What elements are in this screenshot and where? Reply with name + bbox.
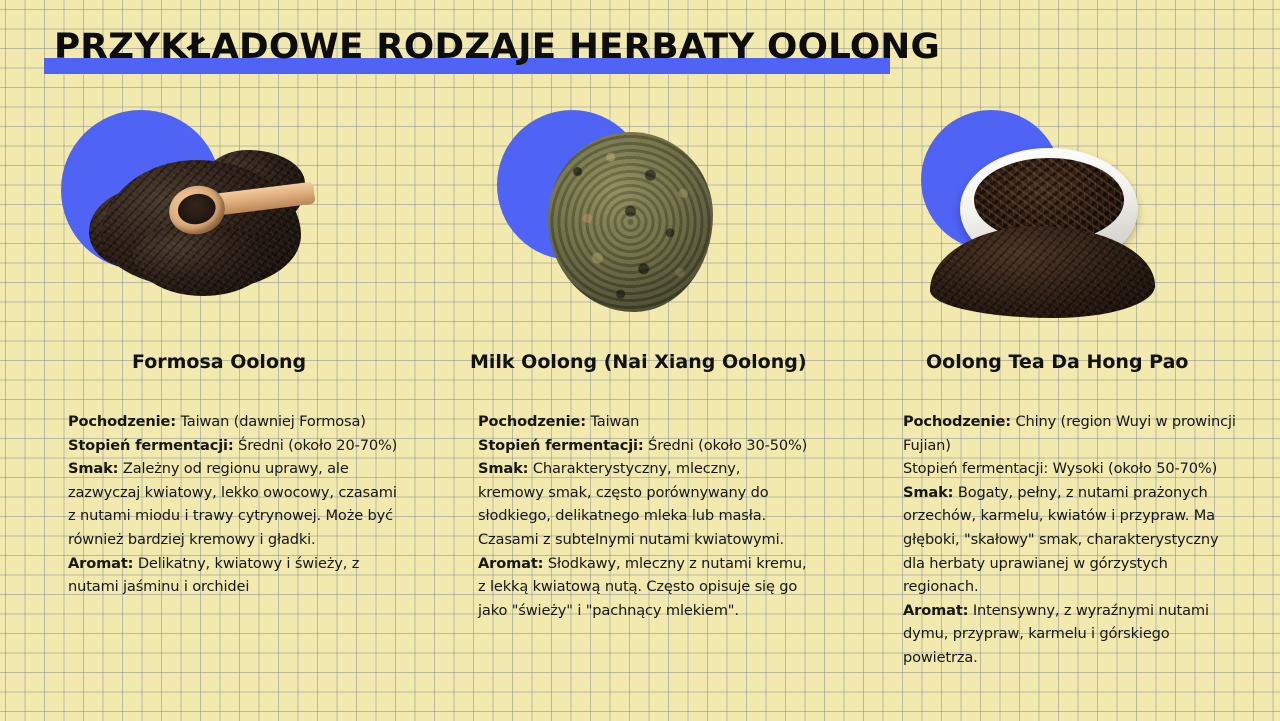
- field-row: Pochodzenie: Taiwan: [478, 410, 808, 434]
- tea-card-da-hong-pao: Oolong Tea Da Hong Pao Pochodzenie: Chin…: [880, 0, 1280, 721]
- tea-name-heading: Milk Oolong (Nai Xiang Oolong): [470, 350, 807, 374]
- field-value: Średni (około 30-50%): [644, 437, 808, 454]
- field-row: Aromat: Słodkawy, mleczny z nutami kremu…: [478, 552, 808, 623]
- field-row: Aromat: Intensywny, z wyraźnymi nutami d…: [903, 599, 1243, 670]
- field-label: Pochodzenie:: [478, 413, 586, 430]
- field-row: Stopień fermentacji: Wysoki (około 50-70…: [903, 457, 1243, 481]
- loose-dark-tea-leaves-with-wooden-scoop-image: [85, 142, 320, 307]
- rolled-green-oolong-pellets-image: [548, 132, 713, 312]
- field-label: Stopień fermentacji:: [478, 437, 644, 454]
- tea-card-formosa-oolong: Formosa Oolong Pochodzenie: Taiwan (dawn…: [0, 0, 440, 721]
- tea-name-heading: Oolong Tea Da Hong Pao: [926, 350, 1188, 374]
- field-label: Stopień fermentacji:: [903, 460, 1048, 477]
- field-label: Aromat:: [68, 555, 133, 572]
- field-label: Aromat:: [478, 555, 543, 572]
- field-row: Pochodzenie: Taiwan (dawniej Formosa): [68, 410, 404, 434]
- tea-image-milk-oolong: [440, 104, 880, 324]
- field-row: Smak: Charakterystyczny, mleczny, kremow…: [478, 457, 808, 551]
- field-value: Wysoki (około 50-70%): [1048, 460, 1217, 477]
- field-row: Stopień fermentacji: Średni (około 20-70…: [68, 434, 404, 458]
- tea-description-da-hong-pao: Pochodzenie: Chiny (region Wuyi w prowin…: [903, 410, 1243, 670]
- field-label: Smak:: [68, 460, 118, 477]
- field-value: Taiwan: [586, 413, 639, 430]
- white-bowl-with-dark-twisted-tea-leaves-image: [930, 126, 1160, 321]
- field-label: Aromat:: [903, 602, 968, 619]
- field-value: Zależny od regionu uprawy, ale zazwyczaj…: [68, 460, 397, 548]
- field-row: Aromat: Delikatny, kwiatowy i świeży, z …: [68, 552, 404, 599]
- tea-image-formosa-oolong: [0, 104, 440, 324]
- field-value: Średni (około 20-70%): [234, 437, 398, 454]
- tea-image-da-hong-pao: [880, 104, 1280, 324]
- field-row: Pochodzenie: Chiny (region Wuyi w prowin…: [903, 410, 1243, 457]
- tea-name-heading: Formosa Oolong: [132, 350, 306, 374]
- field-label: Smak:: [903, 484, 953, 501]
- tea-card-milk-oolong: Milk Oolong (Nai Xiang Oolong) Pochodzen…: [440, 0, 880, 721]
- field-value: Taiwan (dawniej Formosa): [176, 413, 366, 430]
- field-row: Smak: Bogaty, pełny, z nutami prażonych …: [903, 481, 1243, 599]
- tea-description-formosa-oolong: Pochodzenie: Taiwan (dawniej Formosa) St…: [68, 410, 404, 599]
- field-label: Pochodzenie:: [903, 413, 1011, 430]
- field-label: Stopień fermentacji:: [68, 437, 234, 454]
- field-label: Pochodzenie:: [68, 413, 176, 430]
- slide-content: PRZYKŁADOWE RODZAJE HERBATY OOLONG Formo…: [0, 0, 1280, 721]
- tea-description-milk-oolong: Pochodzenie: Taiwan Stopień fermentacji:…: [478, 410, 808, 622]
- field-label: Smak:: [478, 460, 528, 477]
- field-row: Stopień fermentacji: Średni (około 30-50…: [478, 434, 808, 458]
- field-row: Smak: Zależny od regionu uprawy, ale zaz…: [68, 457, 404, 551]
